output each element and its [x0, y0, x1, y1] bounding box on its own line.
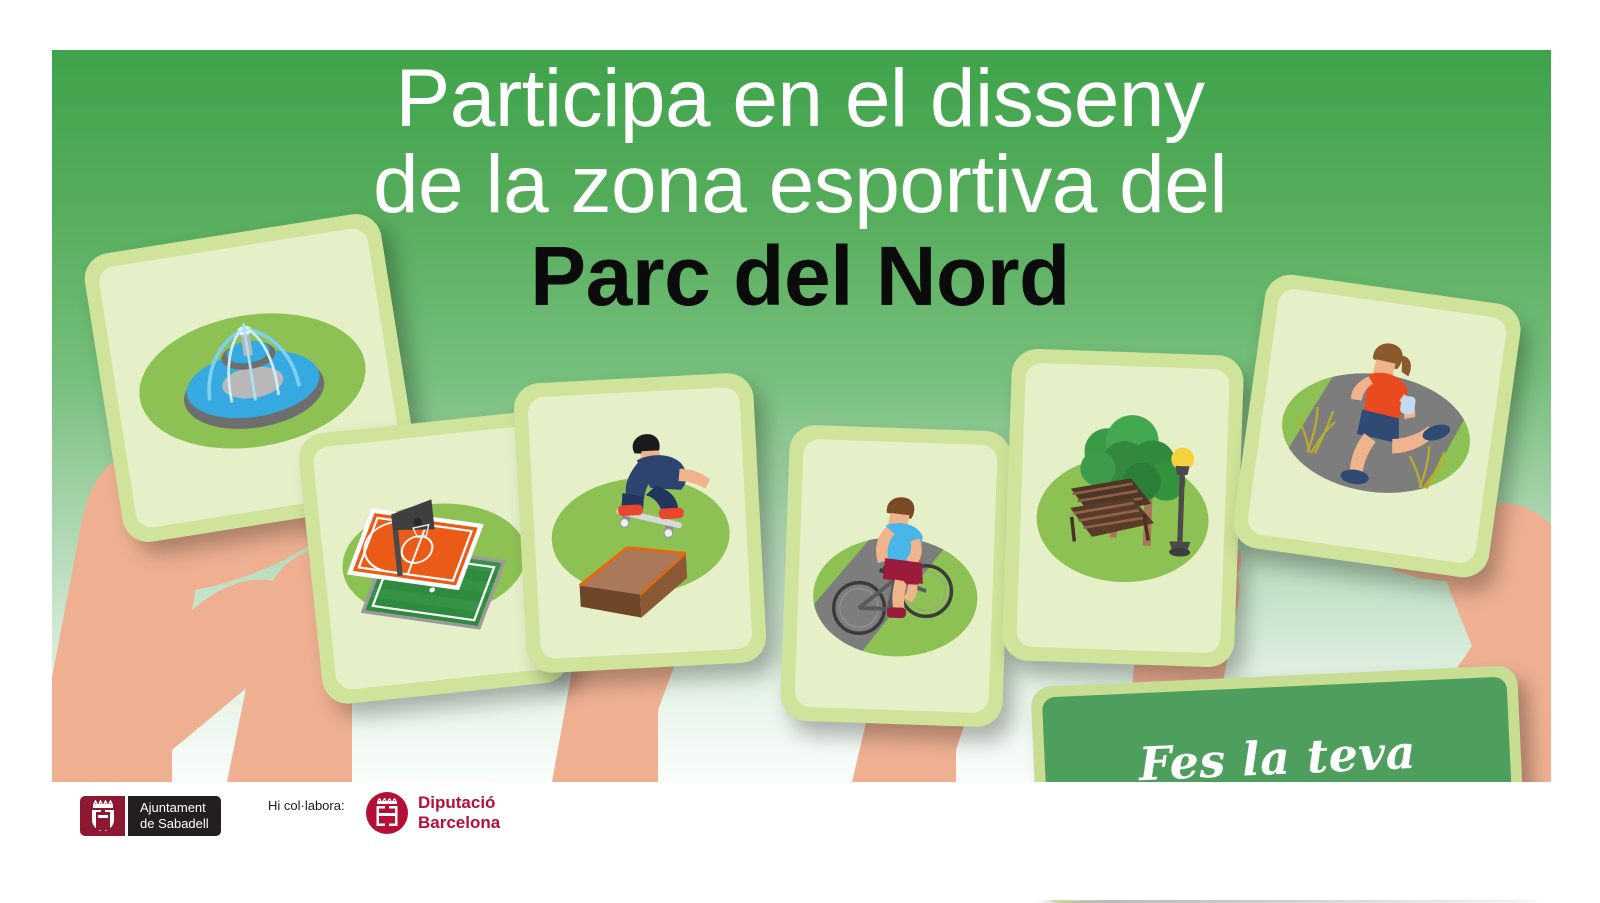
skater-figure: [614, 431, 712, 522]
diputacio-line-2: Barcelona: [418, 813, 500, 832]
sabadell-crest-glyph: [88, 800, 118, 832]
card-runner[interactable]: [1230, 271, 1524, 580]
diputacio-barcelona-logo[interactable]: Diputació Barcelona: [366, 792, 500, 834]
card-skate-face: [527, 387, 752, 660]
diputacio-name: Diputació Barcelona: [418, 793, 500, 833]
ajuntament-line-1: Ajuntament: [140, 800, 209, 816]
ajuntament-line-2: de Sabadell: [140, 816, 209, 832]
footer-bar: [0, 782, 1600, 900]
diputacio-line-1: Diputació: [418, 793, 495, 812]
card-bench[interactable]: [1002, 348, 1245, 668]
ajuntament-sabadell-logo[interactable]: Ajuntament de Sabadell: [80, 796, 221, 836]
sabadell-crest-icon: [80, 796, 125, 836]
poster-canvas: [52, 50, 1551, 782]
card-bike[interactable]: [780, 424, 1012, 728]
skateboard-ramp-icon: [527, 387, 752, 660]
poster-root: Participa en el disseny de la zona espor…: [0, 0, 1600, 900]
diputacio-crest-glyph: [374, 798, 400, 828]
ajuntament-name: Ajuntament de Sabadell: [128, 796, 221, 836]
diputacio-crest-icon: [366, 792, 408, 834]
card-bike-face: [794, 439, 997, 714]
runner-icon: [1246, 287, 1508, 565]
collaborate-label: Hi col·labora:: [268, 798, 345, 813]
park-bench-icon: [1016, 363, 1230, 654]
card-runner-face: [1246, 287, 1508, 565]
cyclist-icon: [794, 439, 997, 714]
card-skate[interactable]: [513, 372, 768, 674]
card-bench-face: [1016, 363, 1230, 654]
